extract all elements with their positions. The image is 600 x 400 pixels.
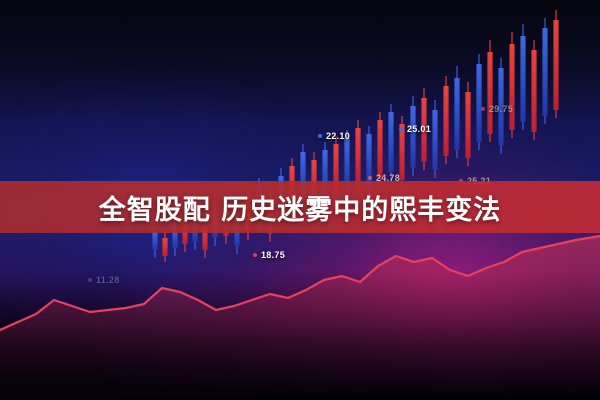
candle-body <box>542 28 547 116</box>
price-marker-dot <box>368 176 372 180</box>
candle-body <box>465 92 470 158</box>
candle-body <box>509 44 514 130</box>
price-marker-dot <box>399 127 403 131</box>
candle-body <box>410 106 415 168</box>
price-marker-dot <box>481 107 485 111</box>
candle-body <box>476 64 481 142</box>
candle-body <box>152 232 157 250</box>
candle-body <box>520 36 525 122</box>
price-label-text: 25.01 <box>407 124 431 134</box>
price-label: 29.75 <box>481 104 513 114</box>
price-label: 22.10 <box>318 131 350 141</box>
price-label: 18.75 <box>253 250 285 260</box>
price-label-text: 11.28 <box>96 275 120 285</box>
price-label-text: 29.75 <box>489 104 513 114</box>
candle-body <box>388 112 393 172</box>
price-marker-dot <box>88 278 92 282</box>
candle-body <box>432 110 437 170</box>
candle-body <box>454 78 459 150</box>
candle-body <box>377 120 382 178</box>
candle-body <box>162 238 167 256</box>
page-title: 全智股配 历史迷雾中的熙丰变法 <box>99 188 501 227</box>
promo-banner-image: 22.1025.0124.7825.2129.7518.7511.28 全智股配… <box>0 0 600 400</box>
candle-body <box>487 52 492 134</box>
price-marker-dot <box>318 134 322 138</box>
price-label: 25.01 <box>399 124 431 134</box>
price-label: 11.28 <box>88 275 120 285</box>
area-chart-fill <box>0 236 600 400</box>
price-label-text: 22.10 <box>326 131 350 141</box>
candle-body <box>355 128 360 184</box>
price-marker-dot <box>253 253 257 257</box>
candle-body <box>531 50 536 132</box>
price-label-text: 18.75 <box>261 250 285 260</box>
candle-body <box>553 20 558 110</box>
title-banner: 全智股配 历史迷雾中的熙丰变法 <box>0 181 600 233</box>
candle-body <box>443 86 448 156</box>
